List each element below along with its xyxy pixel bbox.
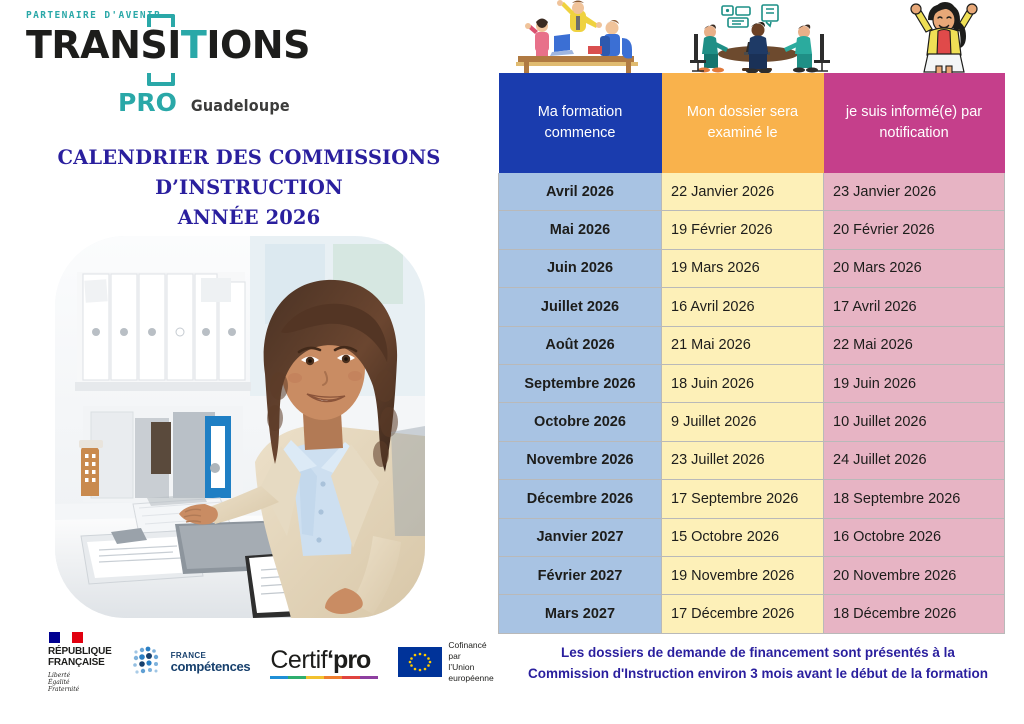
cell-notification: 23 Janvier 2026 xyxy=(824,173,1005,211)
cell-month: Août 2026 xyxy=(499,326,662,364)
meeting-review-illustration xyxy=(670,0,845,74)
table-row: Juin 2026 19 Mars 2026 20 Mars 2026 xyxy=(499,249,1005,287)
cell-month: Juillet 2026 xyxy=(499,288,662,326)
cell-exam-date: 22 Janvier 2026 xyxy=(662,173,824,211)
logo-bracket-top-icon xyxy=(147,14,175,27)
france-competences-dots-icon xyxy=(132,646,166,678)
logo-subrow: PRO Guadeloupe xyxy=(118,88,290,117)
logo-region-text: Guadeloupe xyxy=(191,96,290,115)
cell-exam-date: 23 Juillet 2026 xyxy=(662,441,824,479)
cell-notification: 18 Septembre 2026 xyxy=(824,480,1005,518)
cell-notification: 20 Février 2026 xyxy=(824,211,1005,249)
office-photo-illustration xyxy=(55,236,425,618)
certif-color-bar xyxy=(270,676,378,679)
cell-month: Février 2027 xyxy=(499,556,662,594)
certif-pro-logo: Certif ‘ pro xyxy=(270,646,378,679)
column-header-notification: je suis informé(e) par notification xyxy=(824,73,1005,173)
rf-motto2: Égalité xyxy=(48,679,70,686)
cell-notification: 10 Juillet 2026 xyxy=(824,403,1005,441)
logo-pro-text: PRO xyxy=(118,88,177,117)
logo-bracket-bottom-icon xyxy=(147,73,175,86)
partner-logos: RÉPUBLIQUE FRANÇAISE Liberté Égalité Fra… xyxy=(48,634,468,690)
page-title-line2: ANNÉE 2026 xyxy=(0,203,498,233)
table-row: Septembre 2026 18 Juin 2026 19 Juin 2026 xyxy=(499,364,1005,402)
cell-month: Avril 2026 xyxy=(499,173,662,211)
rf-line2: FRANÇAISE xyxy=(48,657,105,669)
france-competences-logo: FRANCE compétences xyxy=(132,646,251,678)
footnote-line1: Les dossiers de demande de financement s… xyxy=(498,642,1018,663)
commission-calendar-table: Ma formation commence Mon dossier sera e… xyxy=(498,72,1005,634)
logo-word-part1: TRANSI xyxy=(26,23,181,67)
cell-notification: 24 Juillet 2026 xyxy=(824,441,1005,479)
group-at-desk-illustration xyxy=(504,0,654,74)
table-header-row: Ma formation commence Mon dossier sera e… xyxy=(499,73,1005,173)
republique-francaise-logo: RÉPUBLIQUE FRANÇAISE Liberté Égalité Fra… xyxy=(48,632,112,693)
cell-notification: 17 Avril 2026 xyxy=(824,288,1005,326)
cell-month: Juin 2026 xyxy=(499,249,662,287)
cell-notification: 20 Novembre 2026 xyxy=(824,556,1005,594)
eu-line2: l’Union européenne xyxy=(448,662,493,684)
cell-exam-date: 17 Décembre 2026 xyxy=(662,595,824,633)
table-row: Novembre 2026 23 Juillet 2026 24 Juillet… xyxy=(499,441,1005,479)
table-row: Janvier 2027 15 Octobre 2026 16 Octobre … xyxy=(499,518,1005,556)
cell-notification: 19 Juin 2026 xyxy=(824,364,1005,402)
table-row: Décembre 2026 17 Septembre 2026 18 Septe… xyxy=(499,480,1005,518)
logo-word-part2: IONS xyxy=(206,23,310,67)
certif-part1: Certif xyxy=(270,646,327,675)
table-row: Mars 2027 17 Décembre 2026 18 Décembre 2… xyxy=(499,595,1005,633)
cell-month: Décembre 2026 xyxy=(499,480,662,518)
cell-month: Septembre 2026 xyxy=(499,364,662,402)
fc-line2: compétences xyxy=(171,659,251,674)
cell-exam-date: 19 Mars 2026 xyxy=(662,249,824,287)
cell-month: Octobre 2026 xyxy=(499,403,662,441)
france-competences-text: FRANCE compétences xyxy=(171,651,251,674)
column-header-formation-start: Ma formation commence xyxy=(499,73,662,173)
cell-exam-date: 19 Février 2026 xyxy=(662,211,824,249)
left-panel: PARTENAIRE D'AVENIR TRANSITIONS PRO Guad… xyxy=(0,0,498,724)
french-flag-icon xyxy=(49,632,83,643)
table-row: Février 2027 19 Novembre 2026 20 Novembr… xyxy=(499,556,1005,594)
table-body: Avril 2026 22 Janvier 2026 23 Janvier 20… xyxy=(499,173,1005,634)
cell-exam-date: 18 Juin 2026 xyxy=(662,364,824,402)
logo-wordmark: TRANSITIONS xyxy=(26,23,266,67)
european-union-logo: Cofinancé par l’Union européenne xyxy=(398,640,493,684)
table-row: Mai 2026 19 Février 2026 20 Février 2026 xyxy=(499,211,1005,249)
celebrating-woman-illustration xyxy=(896,0,992,74)
rf-motto3: Fraternité xyxy=(48,686,79,693)
certif-pro-wordmark: Certif ‘ pro xyxy=(270,646,370,675)
table-footnote: Les dossiers de demande de financement s… xyxy=(498,642,1018,684)
cell-notification: 16 Octobre 2026 xyxy=(824,518,1005,556)
cell-exam-date: 19 Novembre 2026 xyxy=(662,556,824,594)
rf-motto1: Liberté xyxy=(48,672,70,679)
rf-line1: RÉPUBLIQUE xyxy=(48,646,112,658)
table-head: Ma formation commence Mon dossier sera e… xyxy=(499,73,1005,173)
page-title: CALENDRIER DES COMMISSIONS D’INSTRUCTION… xyxy=(0,143,498,233)
cell-exam-date: 16 Avril 2026 xyxy=(662,288,824,326)
calendar-poster: PARTENAIRE D'AVENIR TRANSITIONS PRO Guad… xyxy=(0,0,1024,724)
cell-notification: 18 Décembre 2026 xyxy=(824,595,1005,633)
cell-exam-date: 9 Juillet 2026 xyxy=(662,403,824,441)
cell-month: Novembre 2026 xyxy=(499,441,662,479)
table-row: Juillet 2026 16 Avril 2026 17 Avril 2026 xyxy=(499,288,1005,326)
footnote-line2: Commission d'Instruction environ 3 mois … xyxy=(498,663,1018,684)
cell-notification: 20 Mars 2026 xyxy=(824,249,1005,287)
eu-text: Cofinancé par l’Union européenne xyxy=(448,640,493,684)
cell-month: Mars 2027 xyxy=(499,595,662,633)
header-illustrations xyxy=(498,0,1004,74)
office-photo xyxy=(55,236,425,618)
column-header-review-date: Mon dossier sera examiné le xyxy=(662,73,824,173)
table-row: Août 2026 21 Mai 2026 22 Mai 2026 xyxy=(499,326,1005,364)
logo-word-highlight: T xyxy=(181,23,206,67)
cell-exam-date: 21 Mai 2026 xyxy=(662,326,824,364)
cell-month: Mai 2026 xyxy=(499,211,662,249)
logo-tagline: PARTENAIRE D'AVENIR xyxy=(26,10,266,21)
eu-flag-icon xyxy=(398,647,442,677)
cell-notification: 22 Mai 2026 xyxy=(824,326,1005,364)
transitions-pro-logo: PARTENAIRE D'AVENIR TRANSITIONS PRO Guad… xyxy=(26,10,266,67)
page-title-line1: CALENDRIER DES COMMISSIONS D’INSTRUCTION xyxy=(0,143,498,203)
cell-exam-date: 17 Septembre 2026 xyxy=(662,480,824,518)
table-row: Avril 2026 22 Janvier 2026 23 Janvier 20… xyxy=(499,173,1005,211)
cell-month: Janvier 2027 xyxy=(499,518,662,556)
cell-exam-date: 15 Octobre 2026 xyxy=(662,518,824,556)
certif-part2: pro xyxy=(333,646,370,675)
table-row: Octobre 2026 9 Juillet 2026 10 Juillet 2… xyxy=(499,403,1005,441)
eu-line1: Cofinancé par xyxy=(448,640,493,662)
